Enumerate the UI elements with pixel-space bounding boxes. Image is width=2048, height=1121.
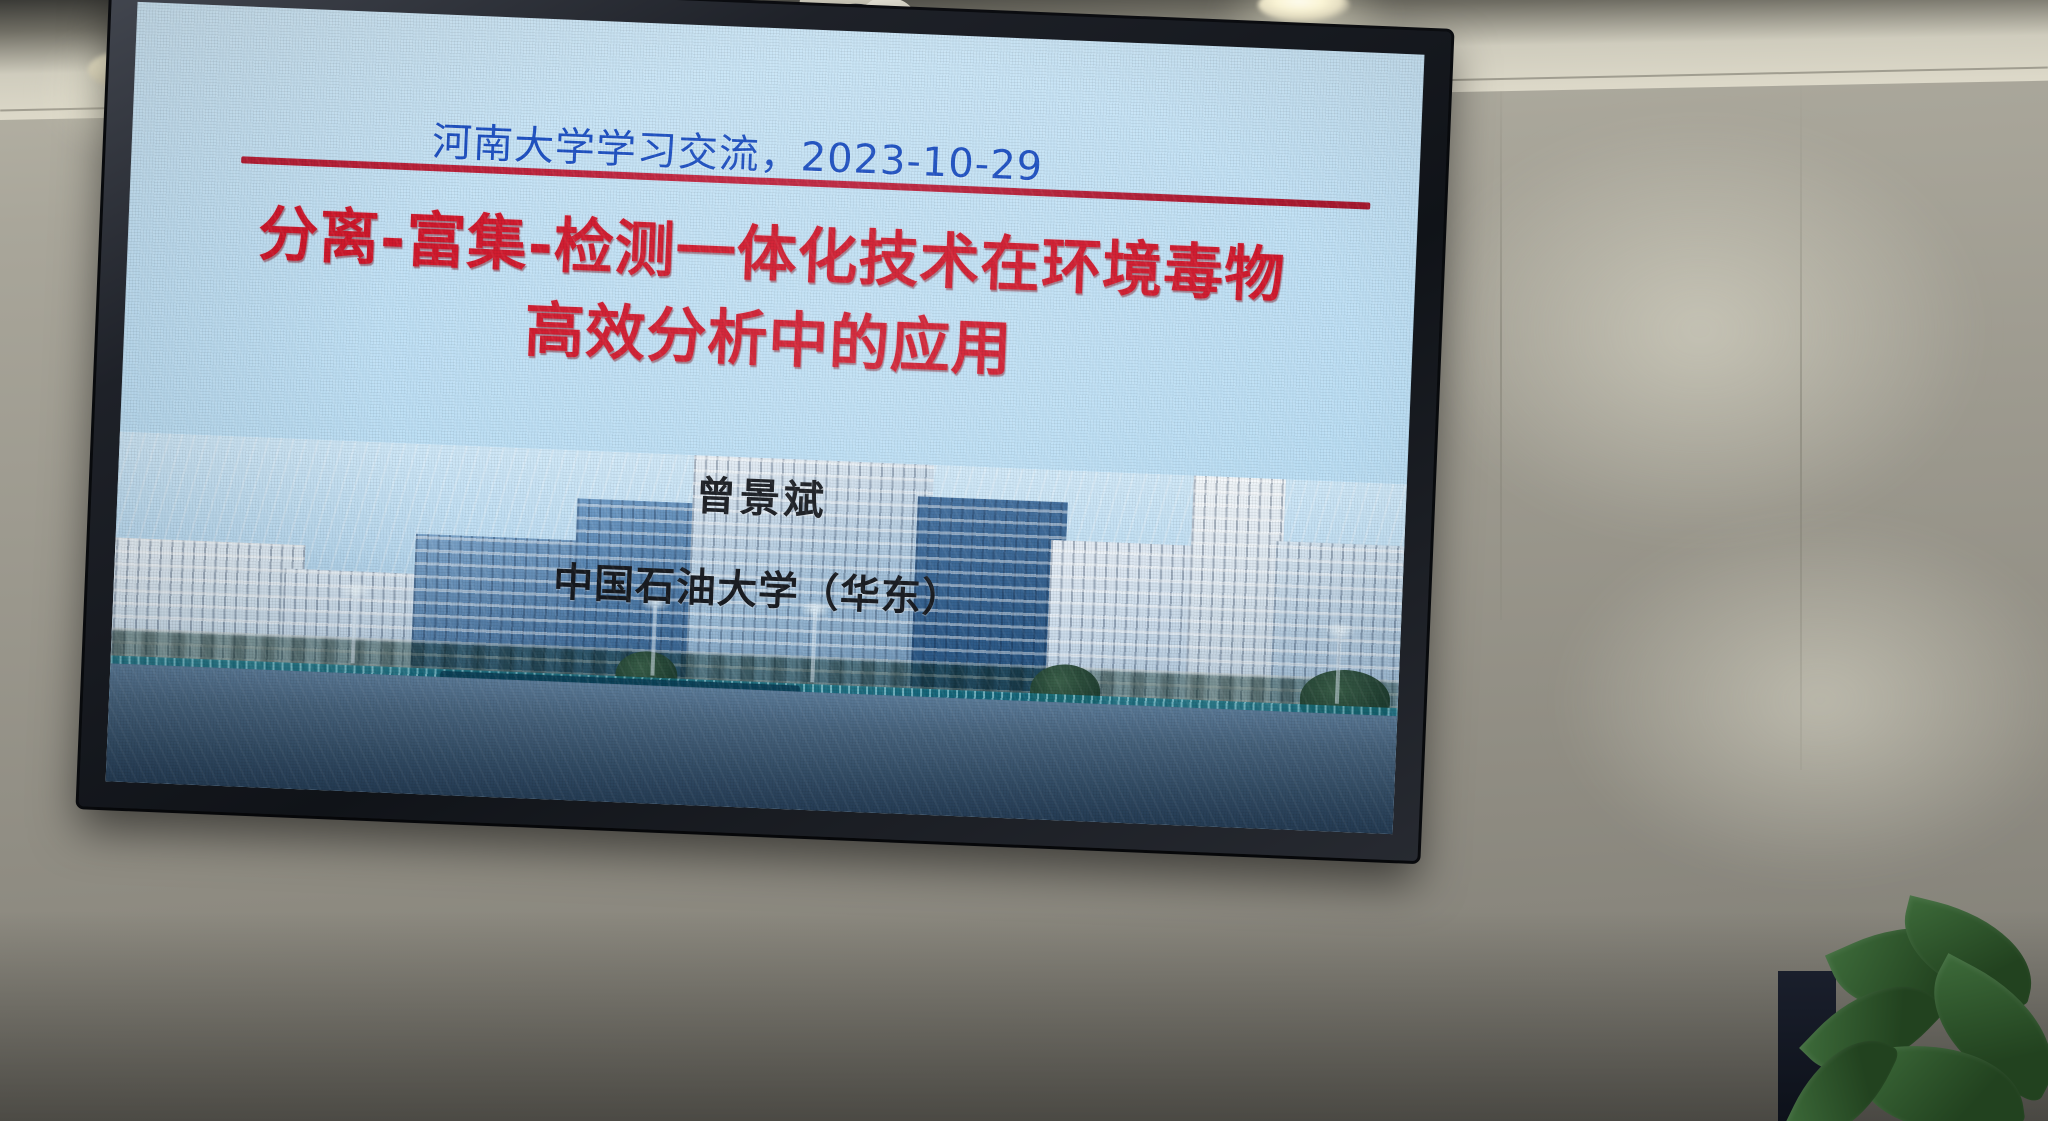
wall-panel-seam (1500, 60, 1502, 620)
screen-surface: 中国石油大学 CHINA UNIVERSITY OF PETROLEUM 河南大… (106, 2, 1425, 834)
slide-title-block: 分离-富集-检测一体化技术在环境毒物 高效分析中的应用 (123, 187, 1417, 410)
wall-light-sheen (1420, 120, 1980, 540)
presenter-name: 曾景斌 (117, 440, 1406, 551)
potted-plant (1778, 911, 2048, 1121)
conference-room-scene: 中国石油大学 CHINA UNIVERSITY OF PETROLEUM 河南大… (0, 0, 2048, 1121)
wall-panel-seam (1800, 70, 1802, 770)
led-display-screen[interactable]: 中国石油大学 CHINA UNIVERSITY OF PETROLEUM 河南大… (79, 0, 1452, 861)
floor-shadow (0, 911, 2048, 1121)
slide-header-text: 河南大学学习交流，2023-10-29 (431, 109, 1044, 192)
presentation-slide: 中国石油大学 CHINA UNIVERSITY OF PETROLEUM 河南大… (106, 2, 1425, 834)
